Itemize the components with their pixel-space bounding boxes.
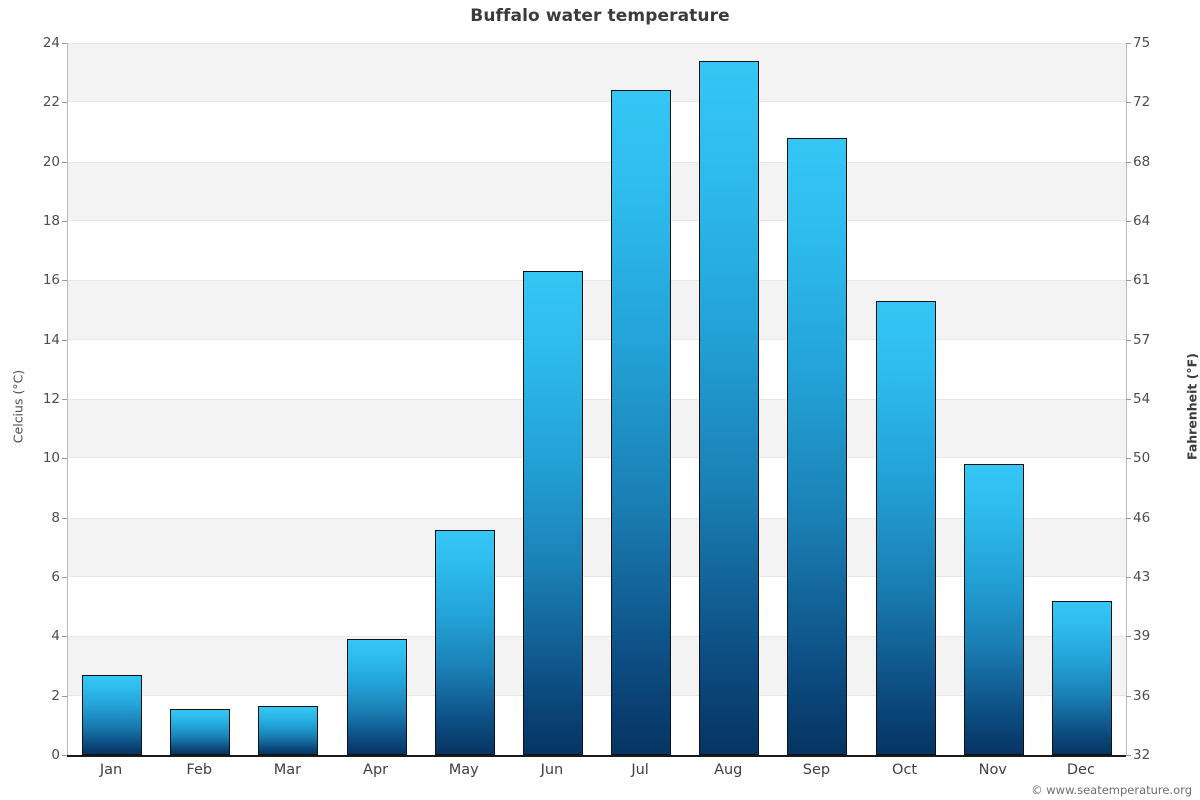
y-tick-label-celsius: 18 [18, 213, 60, 229]
y-tick-mark-fahrenheit [1126, 458, 1131, 459]
y-tick-label-fahrenheit: 50 [1133, 450, 1175, 466]
y-tick-mark-fahrenheit [1126, 696, 1131, 697]
y-tick-mark-fahrenheit [1126, 221, 1131, 222]
bar-may[interactable] [435, 530, 495, 755]
y-tick-mark-fahrenheit [1126, 577, 1131, 578]
y-tick-mark-celsius [62, 280, 67, 281]
bar-oct[interactable] [876, 301, 936, 755]
y-tick-label-celsius: 2 [18, 688, 60, 704]
y-tick-mark-fahrenheit [1126, 43, 1131, 44]
y-tick-label-celsius: 8 [18, 510, 60, 526]
y-tick-mark-celsius [62, 755, 67, 756]
y-tick-label-fahrenheit: 72 [1133, 94, 1175, 110]
y-tick-mark-fahrenheit [1126, 340, 1131, 341]
y-tick-mark-celsius [62, 696, 67, 697]
y-tick-label-celsius: 22 [18, 94, 60, 110]
y-tick-mark-celsius [62, 458, 67, 459]
y-tick-label-fahrenheit: 75 [1133, 35, 1175, 51]
y-tick-mark-celsius [62, 399, 67, 400]
water-temperature-chart: Buffalo water temperature 02468101214161… [0, 0, 1200, 800]
y-tick-mark-celsius [62, 102, 67, 103]
y-tick-mark-celsius [62, 340, 67, 341]
y-tick-label-fahrenheit: 46 [1133, 510, 1175, 526]
y-tick-mark-fahrenheit [1126, 755, 1131, 756]
y-tick-label-fahrenheit: 61 [1133, 272, 1175, 288]
y-tick-mark-celsius [62, 636, 67, 637]
y-tick-label-fahrenheit: 32 [1133, 747, 1175, 763]
y-tick-mark-celsius [62, 43, 67, 44]
y-tick-label-celsius: 20 [18, 154, 60, 170]
y-tick-label-fahrenheit: 43 [1133, 569, 1175, 585]
y-tick-mark-fahrenheit [1126, 102, 1131, 103]
bar-jan[interactable] [82, 675, 142, 755]
y-tick-mark-fahrenheit [1126, 399, 1131, 400]
bar-mar[interactable] [258, 706, 318, 755]
y-axis-fahrenheit-label: Fahrenheit (°F) [1185, 327, 1200, 487]
y-tick-label-fahrenheit: 54 [1133, 391, 1175, 407]
x-tick-label-dec: Dec [1021, 762, 1141, 778]
y-tick-label-fahrenheit: 57 [1133, 332, 1175, 348]
y-tick-mark-celsius [62, 577, 67, 578]
x-axis-baseline [67, 755, 1126, 757]
y-tick-label-fahrenheit: 64 [1133, 213, 1175, 229]
bar-aug[interactable] [699, 61, 759, 755]
y-tick-label-celsius: 4 [18, 628, 60, 644]
bar-feb[interactable] [170, 709, 230, 755]
y-tick-label-fahrenheit: 39 [1133, 628, 1175, 644]
bar-apr[interactable] [347, 639, 407, 755]
y-tick-mark-fahrenheit [1126, 280, 1131, 281]
y-tick-label-fahrenheit: 36 [1133, 688, 1175, 704]
y-tick-mark-fahrenheit [1126, 518, 1131, 519]
y-tick-label-celsius: 0 [18, 747, 60, 763]
y-axis-celsius-label: Celcius (°C) [11, 337, 26, 477]
chart-title: Buffalo water temperature [0, 6, 1200, 26]
bars-layer [68, 43, 1126, 755]
y-tick-label-fahrenheit: 68 [1133, 154, 1175, 170]
y-tick-label-celsius: 24 [18, 35, 60, 51]
y-tick-mark-fahrenheit [1126, 162, 1131, 163]
footer-credit: © www.seatemperature.org [1031, 783, 1192, 797]
bar-jun[interactable] [523, 271, 583, 755]
bar-dec[interactable] [1052, 601, 1112, 755]
bar-jul[interactable] [611, 90, 671, 755]
bar-sep[interactable] [787, 138, 847, 755]
y-tick-mark-celsius [62, 162, 67, 163]
y-tick-label-celsius: 16 [18, 272, 60, 288]
y-tick-mark-celsius [62, 518, 67, 519]
y-tick-mark-celsius [62, 221, 67, 222]
bar-nov[interactable] [964, 464, 1024, 755]
plot-area [67, 43, 1127, 755]
y-tick-label-celsius: 6 [18, 569, 60, 585]
y-tick-mark-fahrenheit [1126, 636, 1131, 637]
